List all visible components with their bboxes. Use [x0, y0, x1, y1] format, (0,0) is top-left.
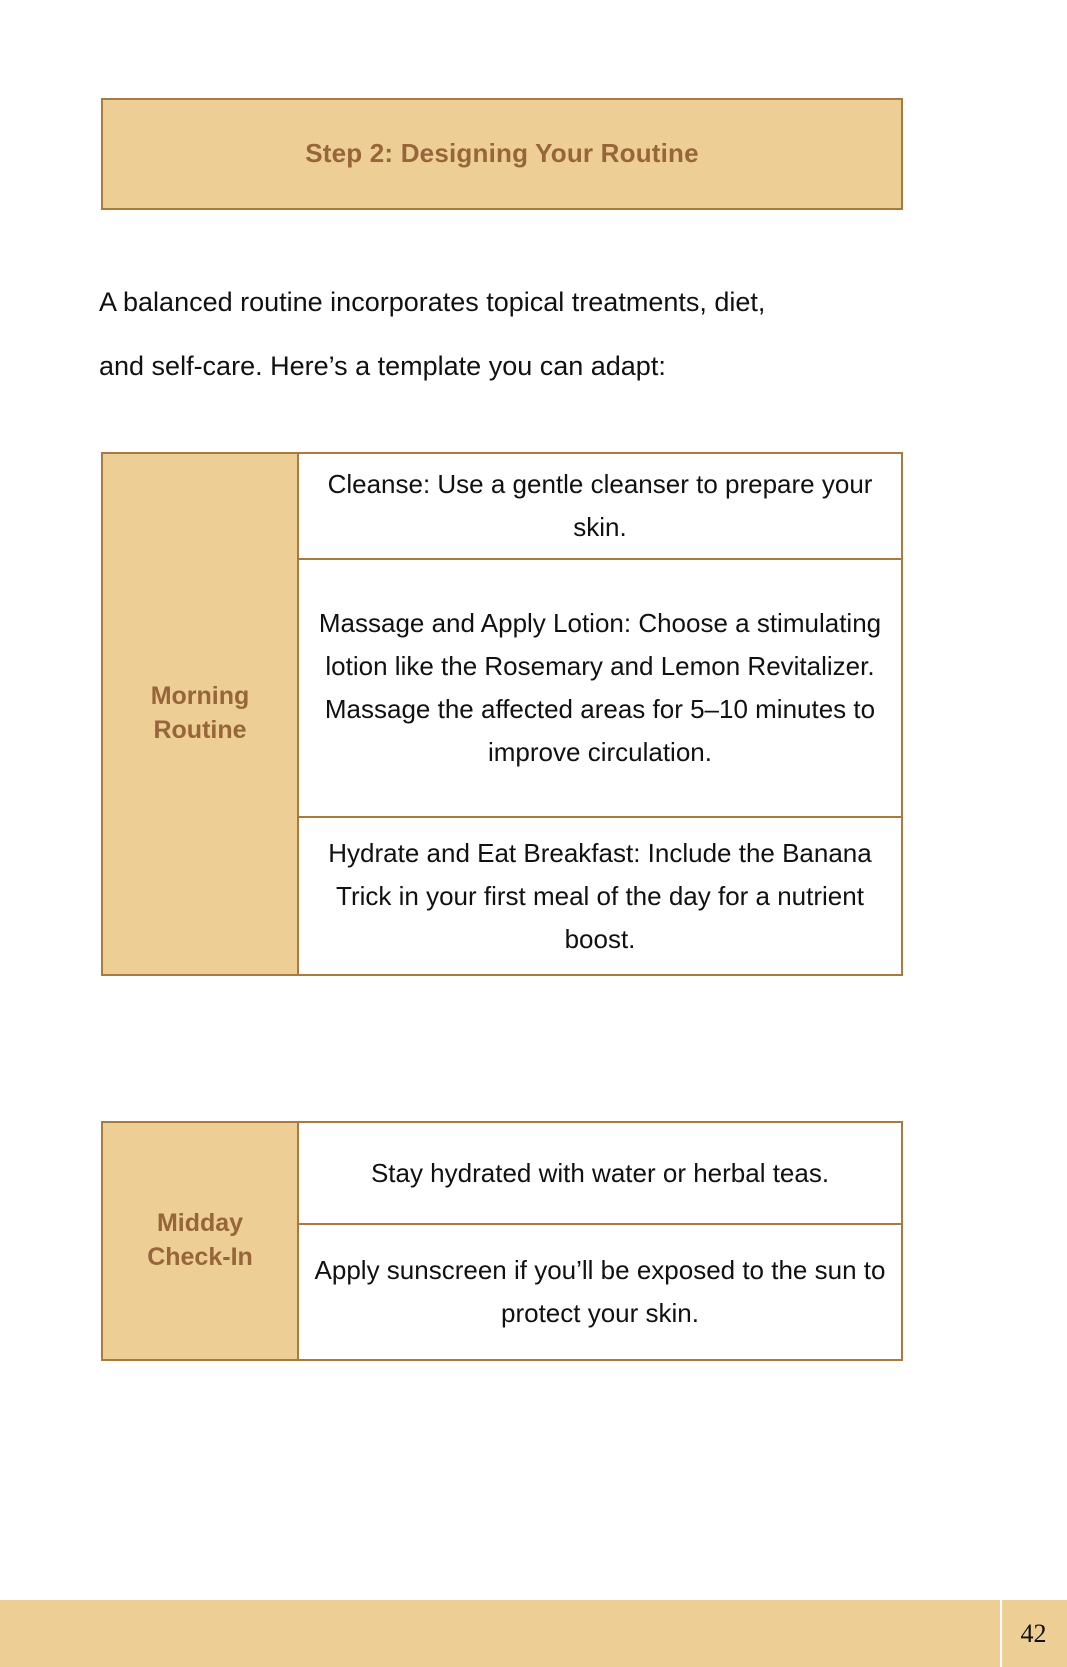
intro-paragraph-line-2: and self-care. Here’s a template you can… [99, 334, 905, 398]
midday-step-2-text: Apply sunscreen if you’ll be exposed to … [313, 1249, 887, 1335]
morning-routine-label: Morning Routine [151, 680, 250, 748]
morning-routine-steps: Cleanse: Use a gentle cleanser to prepar… [299, 454, 901, 974]
morning-routine-label-line-1: Morning [151, 680, 250, 714]
page-number: 42 [1000, 1600, 1067, 1667]
intro-paragraph-line-1: A balanced routine incorporates topical … [99, 270, 905, 334]
midday-checkin-steps: Stay hydrated with water or herbal teas.… [299, 1123, 901, 1359]
footer-band [0, 1600, 1067, 1667]
midday-checkin-label: Midday Check-In [147, 1207, 253, 1275]
midday-step-1-text: Stay hydrated with water or herbal teas. [371, 1152, 829, 1195]
table-row: Massage and Apply Lotion: Choose a stimu… [299, 560, 901, 818]
morning-routine-label-line-2: Routine [151, 714, 250, 748]
section-banner-title: Step 2: Designing Your Routine [305, 138, 699, 169]
document-page: Step 2: Designing Your Routine A balance… [0, 0, 1067, 1667]
intro-paragraph: A balanced routine incorporates topical … [99, 270, 905, 398]
table-row: Stay hydrated with water or herbal teas. [299, 1123, 901, 1225]
midday-checkin-table: Midday Check-In Stay hydrated with water… [101, 1121, 903, 1361]
table-row: Apply sunscreen if you’ll be exposed to … [299, 1225, 901, 1359]
section-banner: Step 2: Designing Your Routine [101, 98, 903, 210]
midday-checkin-label-line-1: Midday [147, 1207, 253, 1241]
morning-routine-table: Morning Routine Cleanse: Use a gentle cl… [101, 452, 903, 976]
midday-checkin-label-cell: Midday Check-In [103, 1123, 299, 1359]
table-row: Hydrate and Eat Breakfast: Include the B… [299, 818, 901, 974]
morning-step-3-text: Hydrate and Eat Breakfast: Include the B… [313, 832, 887, 961]
morning-routine-label-cell: Morning Routine [103, 454, 299, 974]
morning-step-2-text: Massage and Apply Lotion: Choose a stimu… [313, 602, 887, 774]
midday-checkin-label-line-2: Check-In [147, 1241, 253, 1275]
table-row: Cleanse: Use a gentle cleanser to prepar… [299, 454, 901, 560]
morning-step-1-text: Cleanse: Use a gentle cleanser to prepar… [313, 463, 887, 549]
